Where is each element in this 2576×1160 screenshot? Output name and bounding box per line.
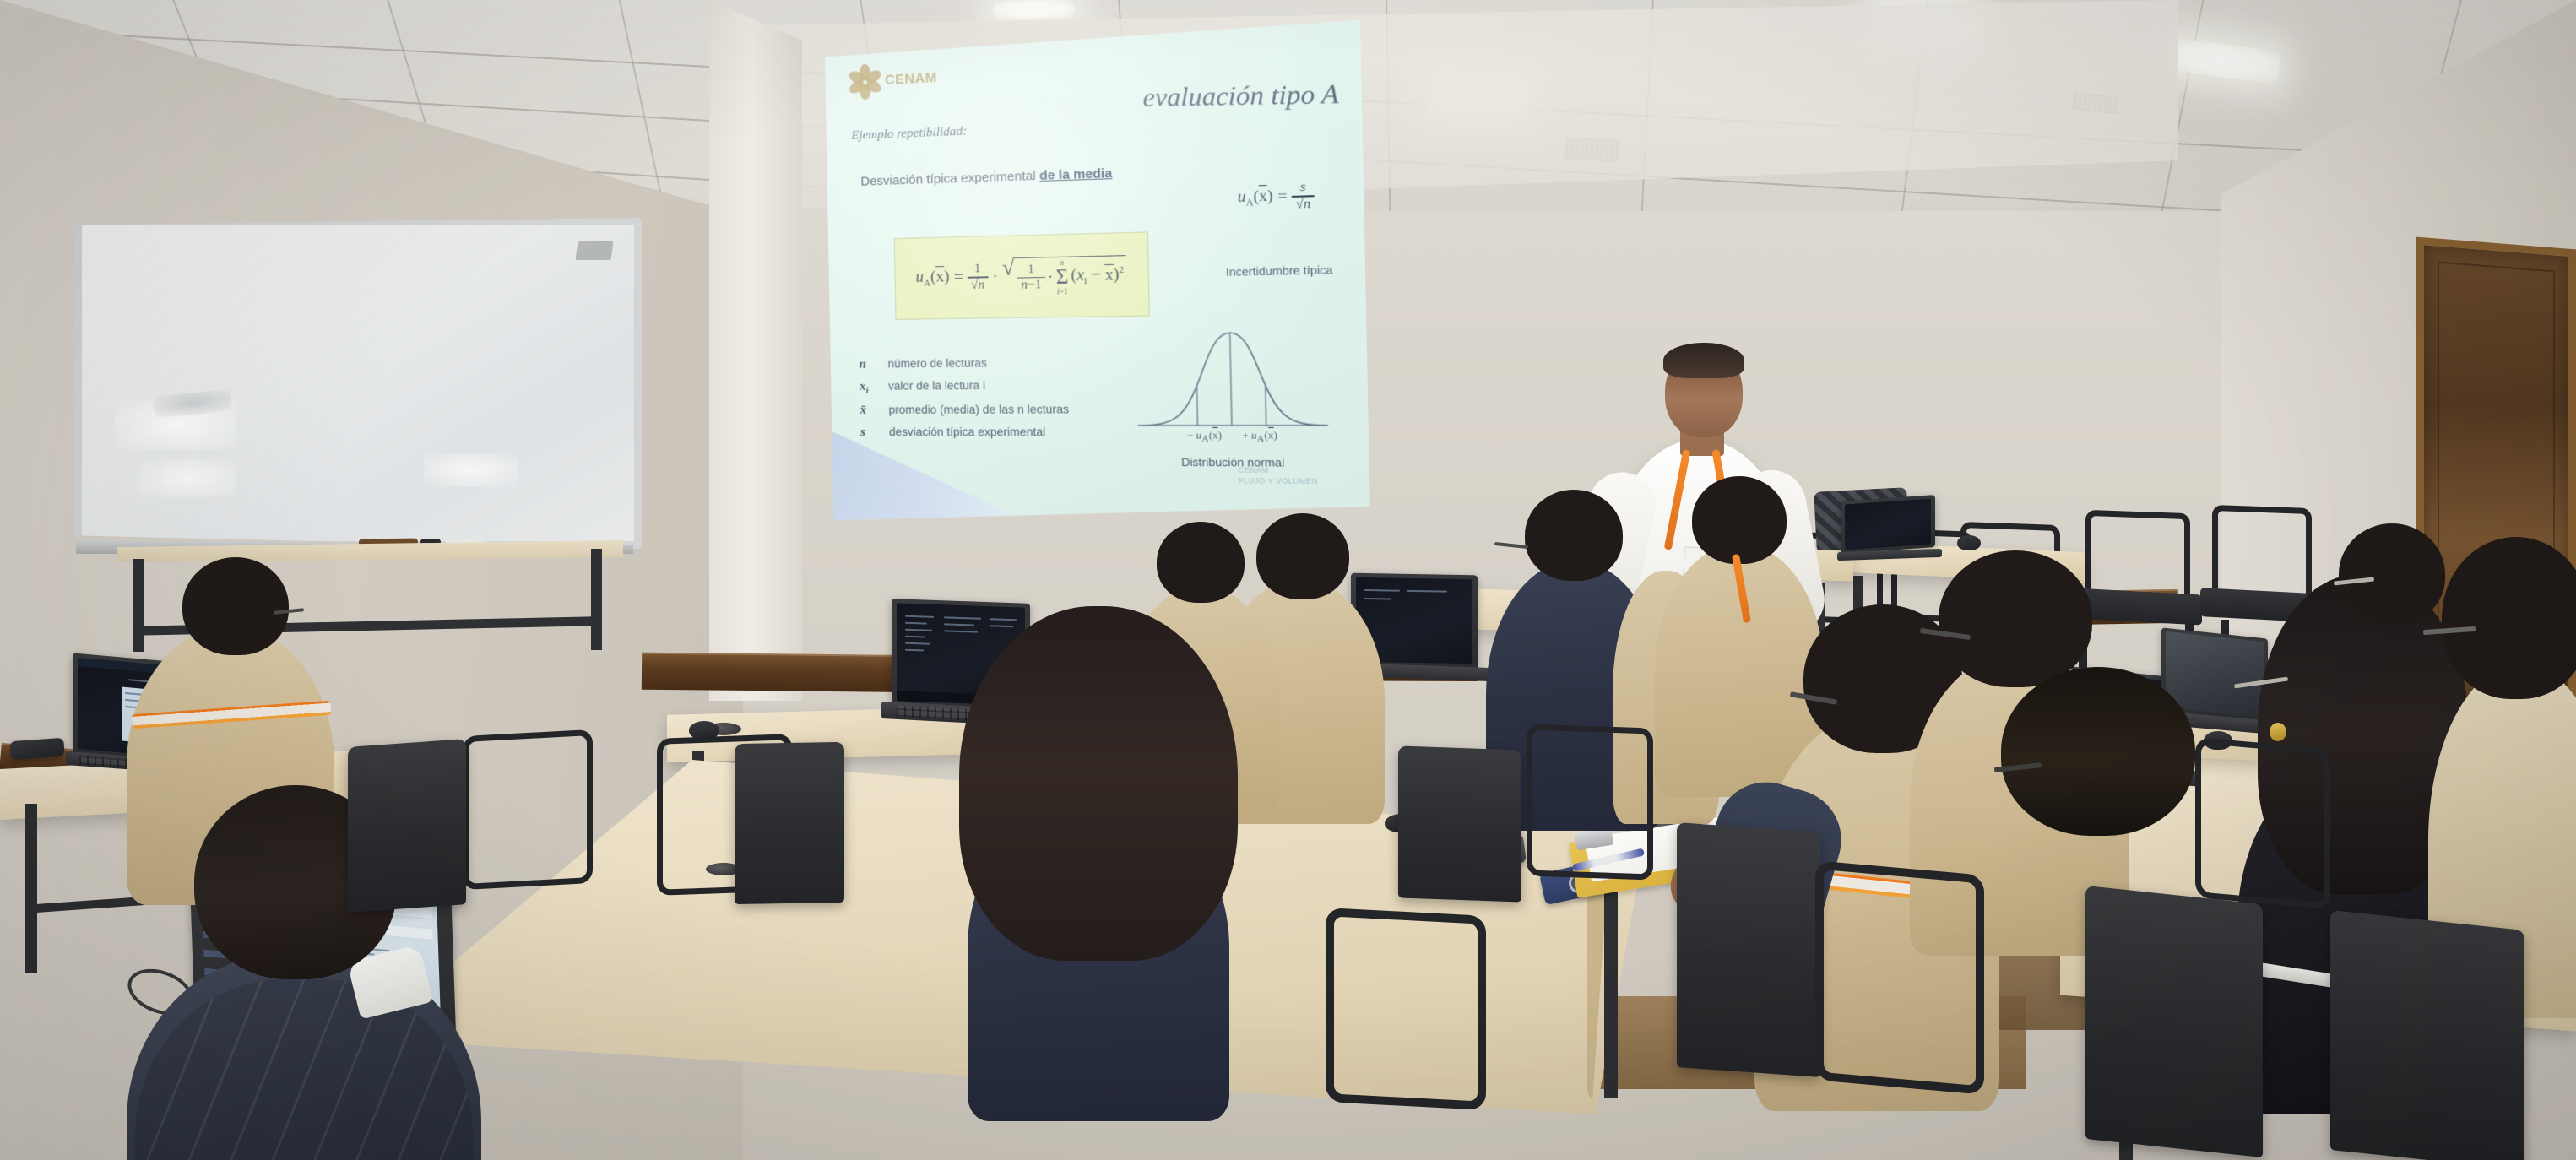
legend-description: número de lecturas <box>887 356 987 370</box>
formula-right-label: Incertidumbre típica <box>1226 263 1333 279</box>
chair[interactable] <box>735 742 844 904</box>
participant-head <box>2442 537 2576 699</box>
legend-item: n número de lecturas <box>859 355 1068 371</box>
slide-legend: n número de lecturas xi valor de la lect… <box>859 355 1069 440</box>
chair[interactable] <box>2330 910 2524 1160</box>
earring <box>2270 723 2286 741</box>
hair <box>959 606 1238 961</box>
slide-title: evaluación tipo A <box>1142 79 1338 113</box>
chair[interactable] <box>1398 745 1521 902</box>
tablet-device[interactable] <box>9 738 64 760</box>
section-label-plain: Desviación típica experimental <box>860 169 1039 189</box>
mouse[interactable] <box>1957 535 1981 550</box>
table-leg <box>25 804 37 973</box>
chair[interactable] <box>2085 886 2263 1157</box>
legend-description: desviación típica experimental <box>889 426 1046 438</box>
chair[interactable] <box>2195 737 2330 909</box>
table-leg <box>591 549 602 650</box>
chart-tick-left: − uA(x) <box>1187 429 1222 444</box>
wall-column <box>709 0 802 701</box>
section-label-underlined: de la media <box>1039 166 1112 183</box>
legend-item: x̄ promedio (media) de las n lecturas <box>860 403 1069 418</box>
legend-description: promedio (media) de las n lecturas <box>888 403 1069 416</box>
cenam-logo: CENAM <box>849 62 937 99</box>
slide-footer-line2: FLUJO Y VOLUMEN <box>1239 475 1319 486</box>
participant-head <box>182 557 289 655</box>
normal-distribution-chart: − uA(x) + uA(x) Distribución normal <box>1134 319 1331 463</box>
chair[interactable] <box>348 739 466 913</box>
formula-box: uA(x) = 1√n · √ 1n−1 · nΣi=1 (xi − x)2 <box>894 231 1150 319</box>
chair[interactable] <box>1677 822 1820 1077</box>
legend-item: s desviación típica experimental <box>860 426 1070 441</box>
slide: CENAM evaluación tipo A Ejemplo repetibi… <box>825 20 1370 527</box>
whiteboard-mark <box>575 241 613 260</box>
participant-head <box>1157 522 1245 603</box>
legend-symbol: n <box>859 357 877 371</box>
chair[interactable] <box>1527 724 1653 880</box>
whiteboard[interactable] <box>74 218 642 549</box>
slide-corner-decoration <box>832 431 1030 523</box>
whiteboard-glare <box>424 453 518 487</box>
legend-symbol: s <box>860 426 879 440</box>
chair[interactable] <box>1815 860 1984 1094</box>
cenam-logo-text: CENAM <box>885 71 937 89</box>
legend-item: xi valor de la lectura i <box>860 378 1069 396</box>
formula-main: uA(x) = 1√n · √ 1n−1 · nΣi=1 (xi − x)2 <box>915 255 1127 298</box>
legend-symbol: x̄ <box>860 404 878 418</box>
projection-screen: CENAM evaluación tipo A Ejemplo repetibi… <box>825 20 1370 527</box>
legend-description: valor de la lectura i <box>888 379 985 393</box>
legend-symbol: xi <box>860 380 878 396</box>
classroom-scene: CENAM evaluación tipo A Ejemplo repetibi… <box>0 0 2576 1160</box>
participant-head <box>2001 667 2195 836</box>
formula-right: uA(x) = s√n <box>1237 181 1314 213</box>
participant-head <box>1256 513 1349 599</box>
chart-tick-labels: − uA(x) + uA(x) <box>1136 429 1331 445</box>
participant-head <box>2339 523 2445 625</box>
presenter-hair <box>1663 343 1744 378</box>
slide-footer-line1: CENAM <box>1238 465 1318 476</box>
chair[interactable] <box>463 729 593 890</box>
cenam-flower-icon <box>849 65 881 99</box>
ceiling-light-panel <box>993 0 1074 19</box>
whiteboard-glare <box>137 459 236 497</box>
chair[interactable] <box>1326 908 1486 1110</box>
participant-head <box>1692 476 1787 564</box>
chart-tick-right: + uA(x) <box>1242 429 1277 444</box>
slide-subtitle: Ejemplo repetibilidad: <box>851 124 967 144</box>
table-leg <box>133 559 144 652</box>
participant-head <box>1939 550 2092 687</box>
participant-head <box>1525 490 1623 581</box>
slide-section-label: Desviación típica experimental de la med… <box>860 166 1112 189</box>
slide-footer: CENAM FLUJO Y VOLUMEN <box>1238 465 1318 486</box>
